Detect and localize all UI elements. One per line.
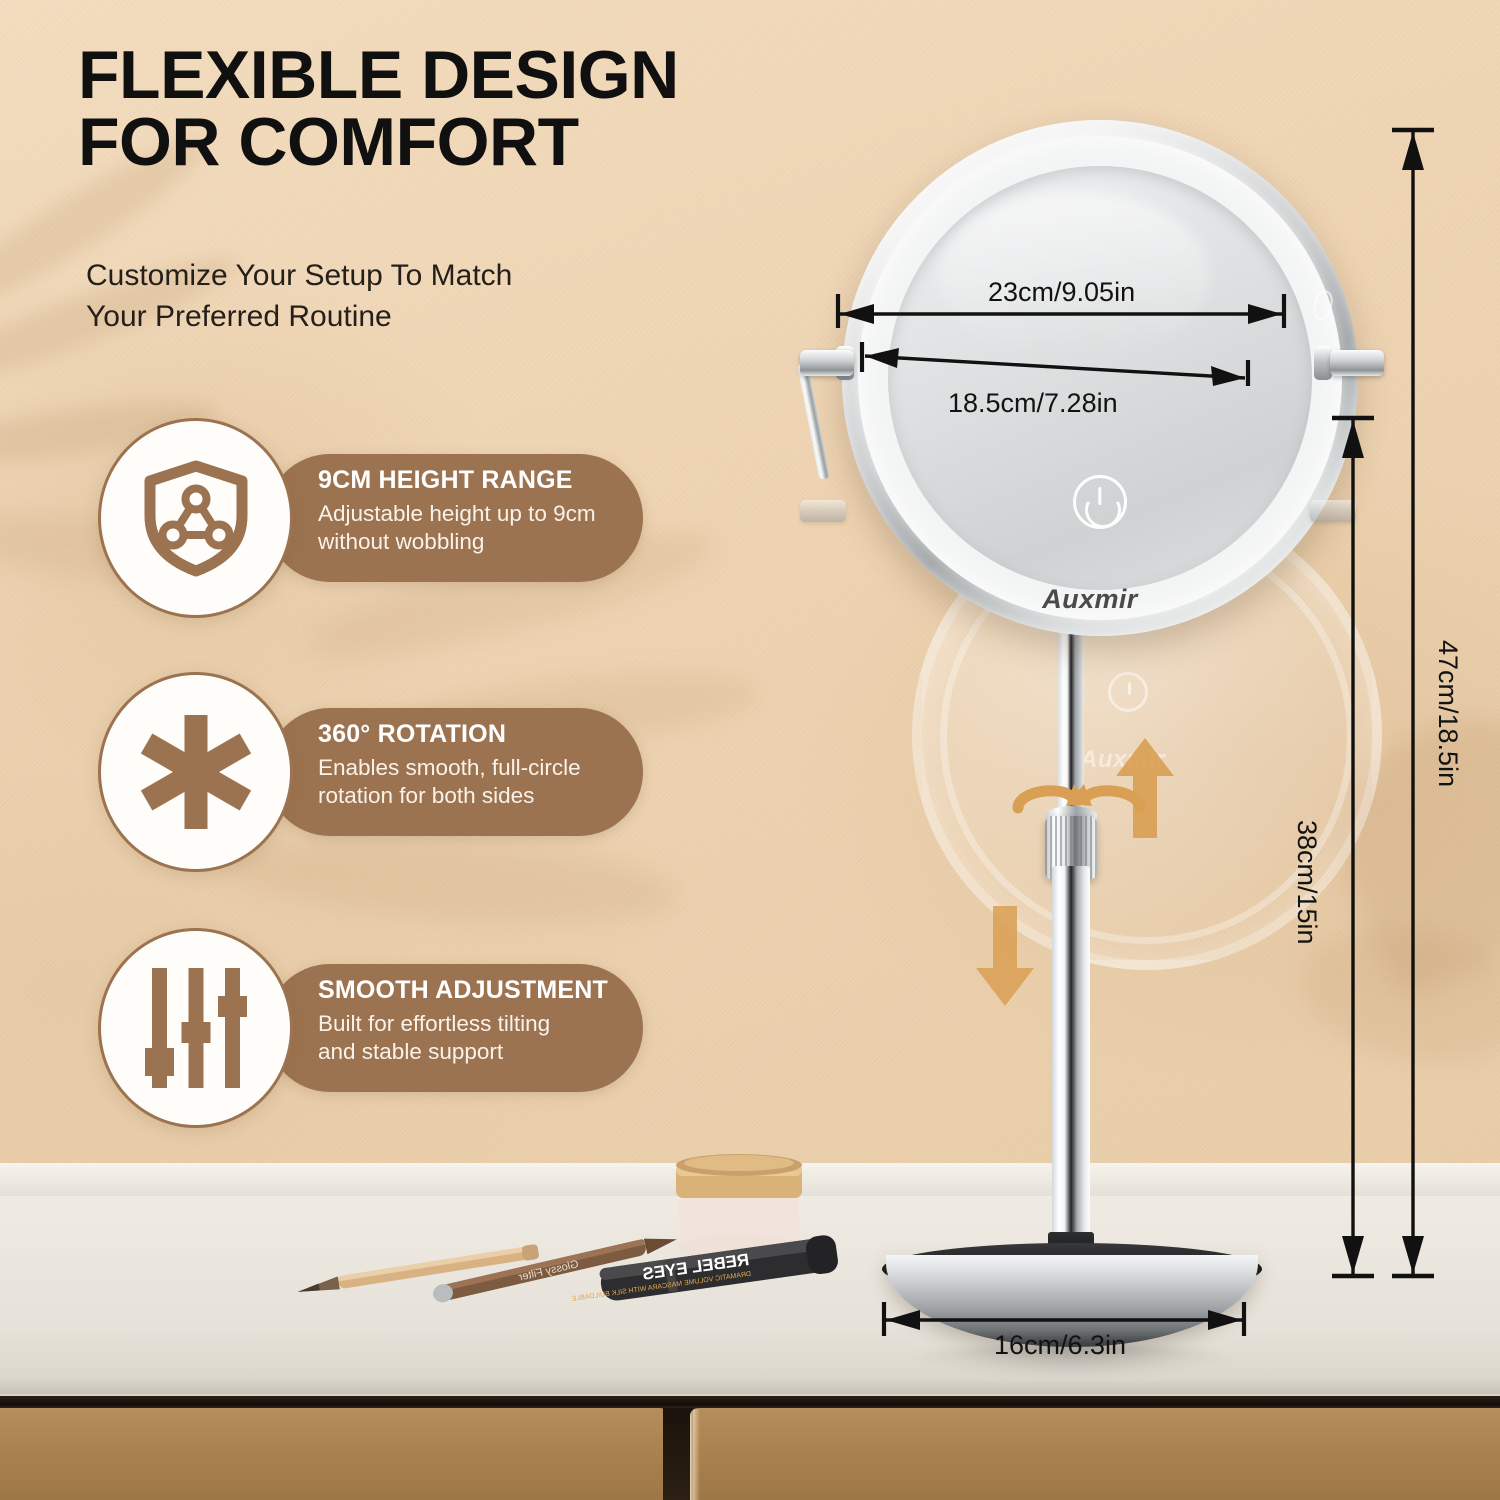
drawer-left bbox=[0, 1408, 670, 1500]
brand-label: Auxmir bbox=[1042, 584, 1137, 615]
feature-icon-badge bbox=[98, 418, 293, 618]
hinge-knob-left[interactable] bbox=[800, 350, 854, 376]
feature-item-height-range: 9CM HEIGHT RANGE Adjustable height up to… bbox=[98, 418, 643, 618]
feature-title: SMOOTH ADJUSTMENT bbox=[318, 976, 648, 1005]
mirror-yoke-left bbox=[797, 362, 830, 480]
dimension-arrow-lowered-height bbox=[1330, 406, 1376, 1288]
shield-network-icon bbox=[140, 458, 252, 578]
height-down-arrow bbox=[976, 906, 1034, 1006]
feature-desc-line-2: without wobbling bbox=[318, 528, 648, 556]
power-button-icon[interactable] bbox=[1073, 475, 1127, 529]
feature-item-rotation: 360° ROTATION Enables smooth, full-circl… bbox=[98, 672, 643, 872]
infographic-canvas: Glossy Filter REBEL EYES DRAMATIC VOLUME… bbox=[0, 0, 1500, 1500]
page-title: FLEXIBLE DESIGN FOR COMFORT bbox=[78, 42, 838, 177]
sliders-adjustment-icon bbox=[140, 964, 252, 1092]
subhead-line-1: Customize Your Setup To Match bbox=[86, 255, 706, 296]
asterisk-rotation-icon bbox=[135, 711, 257, 833]
feature-title: 360° ROTATION bbox=[318, 720, 648, 749]
feature-text-block: 360° ROTATION Enables smooth, full-circl… bbox=[318, 720, 648, 811]
feature-icon-badge bbox=[98, 928, 293, 1128]
feature-item-smooth-adjustment: SMOOTH ADJUSTMENT Built for effortless t… bbox=[98, 928, 643, 1128]
dimension-label-mirror-glass: 18.5cm/7.28in bbox=[948, 388, 1118, 419]
page-subtitle: Customize Your Setup To Match Your Prefe… bbox=[86, 255, 706, 338]
feature-icon-badge bbox=[98, 672, 293, 872]
feature-description: Adjustable height up to 9cm without wobb… bbox=[318, 500, 648, 557]
headline-line-2: FOR COMFORT bbox=[78, 109, 838, 176]
subhead-line-2: Your Preferred Routine bbox=[86, 296, 706, 337]
dimension-arrow-mirror-glass bbox=[855, 342, 1255, 386]
hinge-knob-right[interactable] bbox=[1330, 350, 1384, 376]
dimension-arrow-mirror-outer bbox=[830, 292, 1292, 328]
headline-line-1: FLEXIBLE DESIGN bbox=[78, 42, 838, 109]
feature-desc-line-2: rotation for both sides bbox=[318, 782, 648, 810]
feature-text-block: 9CM HEIGHT RANGE Adjustable height up to… bbox=[318, 466, 648, 557]
drawer-divider bbox=[663, 1408, 693, 1500]
desk-edge bbox=[0, 1380, 1500, 1394]
dimension-label-lowered-height: 38cm/15in bbox=[1291, 820, 1322, 945]
feature-description: Enables smooth, full-circle rotation for… bbox=[318, 754, 648, 811]
dimension-label-total-height: 47cm/18.5in bbox=[1432, 640, 1463, 787]
feature-desc-line-1: Built for effortless tilting bbox=[318, 1010, 648, 1038]
dimension-arrow-total-height bbox=[1390, 118, 1436, 1288]
dimension-label-base-width: 16cm/6.3in bbox=[994, 1330, 1126, 1361]
height-up-arrow bbox=[1116, 738, 1174, 838]
feature-desc-line-1: Enables smooth, full-circle bbox=[318, 754, 648, 782]
feature-title: 9CM HEIGHT RANGE bbox=[318, 466, 648, 495]
ghost-hinge-knob-left bbox=[800, 500, 846, 522]
feature-desc-line-2: and stable support bbox=[318, 1038, 648, 1066]
mirror-pole bbox=[1052, 866, 1090, 1284]
feature-description: Built for effortless tilting and stable … bbox=[318, 1010, 648, 1067]
feature-text-block: SMOOTH ADJUSTMENT Built for effortless t… bbox=[318, 976, 648, 1067]
drawer-highlight bbox=[690, 1408, 700, 1500]
feature-desc-line-1: Adjustable height up to 9cm bbox=[318, 500, 648, 528]
drawer-right bbox=[690, 1408, 1500, 1500]
ghost-power-icon bbox=[1108, 672, 1148, 712]
